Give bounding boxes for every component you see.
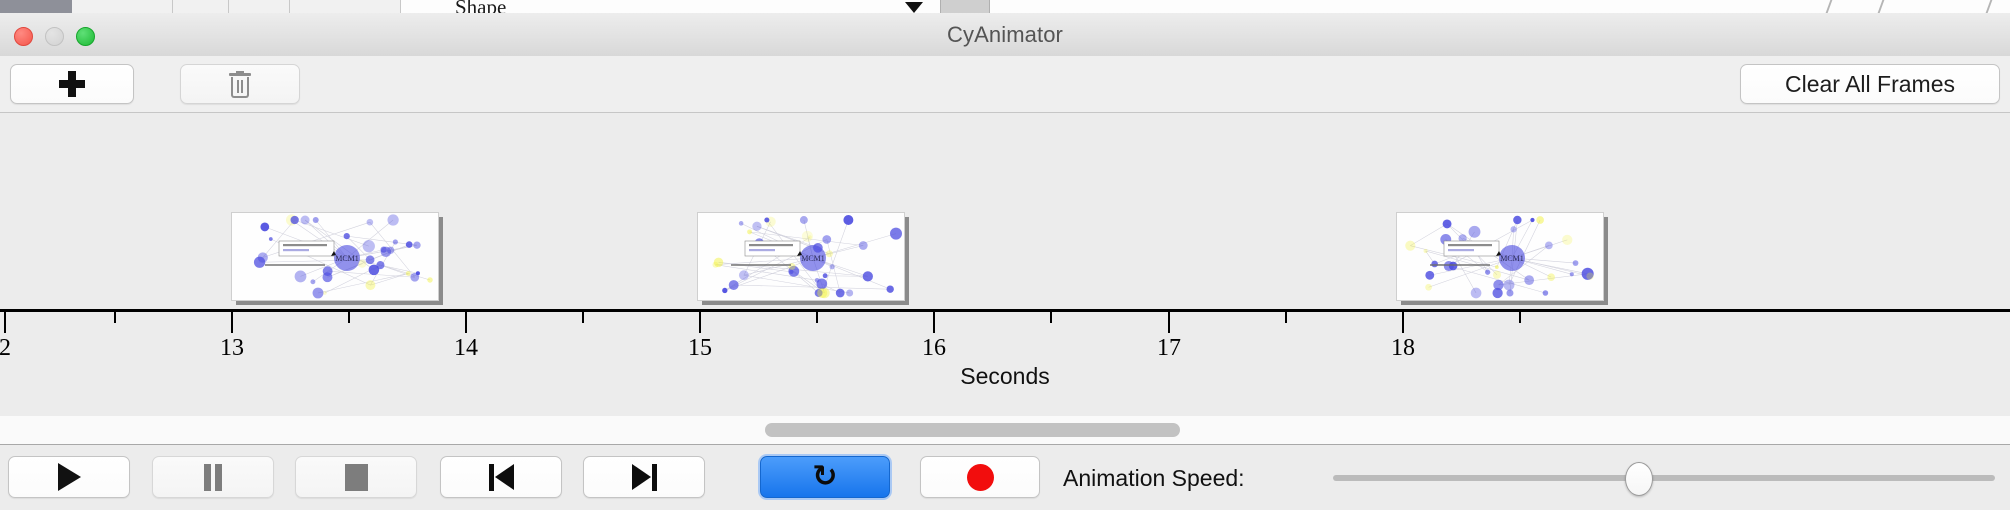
pause-icon [202,464,224,491]
animation-speed-label: Animation Speed: [1063,465,1245,492]
timeline-scrollbar[interactable] [0,416,2010,445]
tick-mark [348,312,350,323]
skip-to-end-button[interactable] [583,456,705,498]
skip-to-start-button[interactable] [440,456,562,498]
svg-text:MCM1: MCM1 [335,254,359,263]
stop-button[interactable] [295,456,417,498]
background-window-header [0,0,72,13]
skip-forward-icon [632,464,657,491]
record-button[interactable] [920,456,1040,498]
tick-mark [1050,312,1052,323]
toolbar: Clear All Frames [0,56,2010,113]
tick-mark [4,312,6,333]
tick-mark [1168,312,1170,333]
record-icon [967,464,994,491]
add-frame-button[interactable] [10,64,134,104]
keyframe-image: MCM1 [231,212,439,301]
timeline-axis-line [0,309,2010,312]
keyframe-image: MCM1 [1396,212,1604,301]
cyanimator-window: Shape CyAnimator Clear All Frames MCM1MC… [0,0,2010,510]
tick-mark [1519,312,1521,323]
play-icon [58,463,81,491]
background-chip [229,0,290,13]
keyframe-thumbnail[interactable]: MCM1 [1396,212,1608,304]
background-window: Shape [0,0,2010,14]
tick-label: 13 [220,335,244,362]
animation-speed-slider[interactable] [1333,475,1995,481]
background-divider [1878,0,1885,13]
play-button[interactable] [8,456,130,498]
stop-icon [345,464,368,491]
background-divider [1986,0,1993,13]
background-window-label: Shape [455,0,506,14]
tick-label: 17 [1157,335,1181,362]
skip-back-icon [489,464,514,491]
background-chip [173,0,229,13]
tick-label: 16 [922,335,946,362]
background-chip [72,0,173,13]
tick-mark [582,312,584,323]
window-title: CyAnimator [0,22,2010,48]
tick-mark [699,312,701,333]
tick-mark [231,312,233,333]
tick-mark [465,312,467,333]
background-cursor-icon [905,2,923,13]
tick-label: 15 [688,335,712,362]
pause-button[interactable] [152,456,274,498]
tick-mark [816,312,818,323]
network-graph: MCM1 [232,213,438,300]
tick-mark [933,312,935,333]
timeline-panel[interactable]: MCM1MCM1MCM1 2131415161718 Seconds [0,113,2010,417]
tick-label: 2 [0,335,11,362]
tick-mark [1285,312,1287,323]
keyframe-image: MCM1 [697,212,905,301]
trash-icon [229,71,251,98]
scrollbar-thumb[interactable] [765,423,1180,437]
slider-thumb[interactable] [1625,462,1653,496]
tick-mark [114,312,116,323]
tick-label: 18 [1391,335,1415,362]
tick-label: 14 [454,335,478,362]
clear-all-frames-button[interactable]: Clear All Frames [1740,64,2000,104]
keyframe-thumbnail[interactable]: MCM1 [697,212,909,304]
svg-text:MCM1: MCM1 [801,254,825,263]
loop-icon: ↻ [812,462,837,492]
playback-bar: ↻ Animation Speed: [0,445,2010,510]
loop-button[interactable]: ↻ [760,456,890,498]
network-graph: MCM1 [698,213,904,300]
delete-frame-button[interactable] [180,64,300,104]
background-chip [290,0,401,13]
axis-title: Seconds [0,363,2010,390]
background-divider [1826,0,1833,13]
background-swatch [940,0,990,13]
keyframe-thumbnail[interactable]: MCM1 [231,212,443,304]
plus-icon [59,71,85,97]
tick-mark [1402,312,1404,333]
svg-text:MCM1: MCM1 [1500,254,1524,263]
network-graph: MCM1 [1397,213,1603,300]
title-bar: CyAnimator [0,13,2010,57]
